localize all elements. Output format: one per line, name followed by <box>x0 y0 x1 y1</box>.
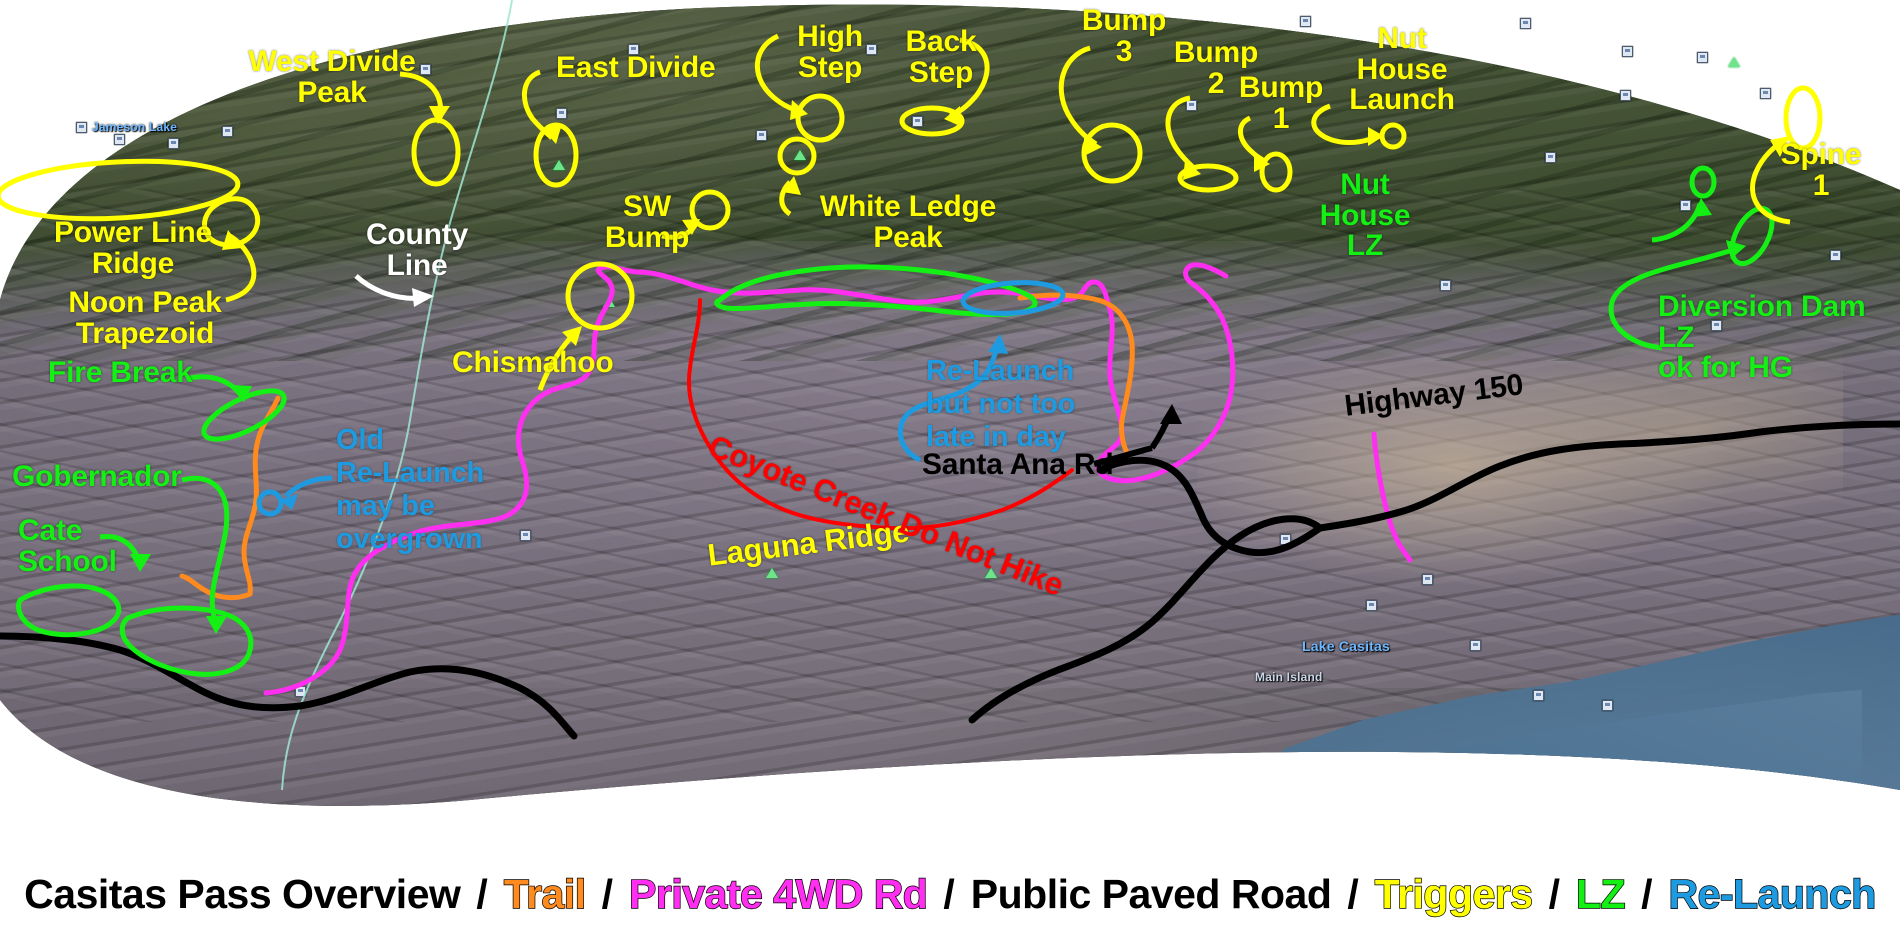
lz-diversion-dam-ellipse[interactable] <box>1724 202 1780 270</box>
label-west-divide-peak: West Divide Peak <box>232 47 432 108</box>
legend-item-title: Casitas Pass Overview <box>24 871 460 918</box>
legend-item-triggers: Triggers <box>1375 871 1533 918</box>
trigger-bump-2-leader <box>1168 98 1196 170</box>
legend-separator: / <box>586 871 629 918</box>
legend-separator: / <box>460 871 503 918</box>
label-nut-house-launch: Nut House Launch <box>1334 24 1470 116</box>
label-gobernador: Gobernador <box>12 462 232 493</box>
label-white-ledge-peak: White Ledge Peak <box>800 192 1016 253</box>
lz-gobernador-arrowhead <box>206 616 227 634</box>
label-nut-house-lz: Nut House LZ <box>1310 170 1420 262</box>
relaunch-late-arrowhead <box>988 334 1008 354</box>
label-sw-bump: SW Bump <box>600 192 694 253</box>
label-santa-ana-rd: Santa Ana Rd <box>922 450 1162 481</box>
relaunch-old-leader <box>286 478 332 496</box>
trigger-white-ledge-peak-circle[interactable] <box>780 139 814 173</box>
label-county-line: County Line <box>350 220 484 281</box>
legend-separator: / <box>1533 871 1576 918</box>
label-old-relaunch-note: Old Re-Launch may be overgrown <box>336 424 536 556</box>
trigger-nut-house-launch-circle[interactable] <box>1382 125 1404 147</box>
label-noon-peak-trapezoid: Noon Peak Trapezoid <box>40 288 250 349</box>
label-spine-1: Spine 1 <box>1764 140 1878 201</box>
trigger-bump-3-circle[interactable] <box>1084 125 1140 181</box>
trigger-power-line-ridge-ellipse[interactable] <box>0 156 239 224</box>
satellite-map[interactable]: Jameson Lake L <box>0 0 1900 860</box>
relaunch-old-circle[interactable] <box>259 492 281 514</box>
legend-item-lz: LZ <box>1576 871 1625 918</box>
legend-separator: / <box>1625 871 1668 918</box>
legend-separator: / <box>927 871 970 918</box>
label-fire-break: Fire Break <box>48 358 248 389</box>
legend-bar: Casitas Pass Overview / Trail / Private … <box>0 860 1900 928</box>
route-public-paved-road-west[interactable] <box>0 636 574 736</box>
lz-diversion-dam-arrowhead <box>1726 240 1746 259</box>
route-public-paved-road-highway150[interactable] <box>1320 424 1900 528</box>
label-diversion-dam-lz: Diversion Dam LZ ok for HG <box>1658 292 1898 384</box>
legend-separator: / <box>1331 871 1374 918</box>
label-east-divide: East Divide <box>556 53 756 84</box>
legend-item-re-launch: Re-Launch <box>1668 871 1875 918</box>
santa-ana-rd-arrowhead <box>1160 404 1182 424</box>
label-cate-school: Cate School <box>18 516 148 577</box>
route-private-4wd-rd-lower[interactable] <box>1374 434 1410 560</box>
lz-gobernador-leader <box>182 478 227 628</box>
trigger-west-divide-peak-ellipse[interactable] <box>414 120 458 184</box>
legend-item-public-paved-road: Public Paved Road <box>971 871 1332 918</box>
label-power-line-ridge: Power Line Ridge <box>28 218 238 279</box>
legend-item-private-4wd-rd: Private 4WD Rd <box>629 871 927 918</box>
lz-gobernador-outline[interactable] <box>122 608 251 674</box>
lz-nut-house-circle[interactable] <box>1692 168 1714 196</box>
map-page: Jameson Lake L <box>0 0 1900 928</box>
lz-nut-house-arrowhead <box>1692 198 1712 217</box>
label-relaunch-late-note: Re-Launch but not too late in day <box>926 355 1156 454</box>
label-high-step: High Step <box>780 22 880 83</box>
label-bump-1: Bump 1 <box>1224 73 1338 134</box>
trigger-high-step-circle[interactable] <box>798 96 842 140</box>
route-private-4wd-rd-spur[interactable] <box>1186 265 1233 398</box>
label-chismahoo: Chismahoo <box>452 348 672 379</box>
legend-item-trail: Trail <box>504 871 586 918</box>
lz-cate-school-outline[interactable] <box>19 586 119 635</box>
lz-nut-house-leader <box>1652 204 1700 240</box>
label-back-step: Back Step <box>888 27 994 88</box>
